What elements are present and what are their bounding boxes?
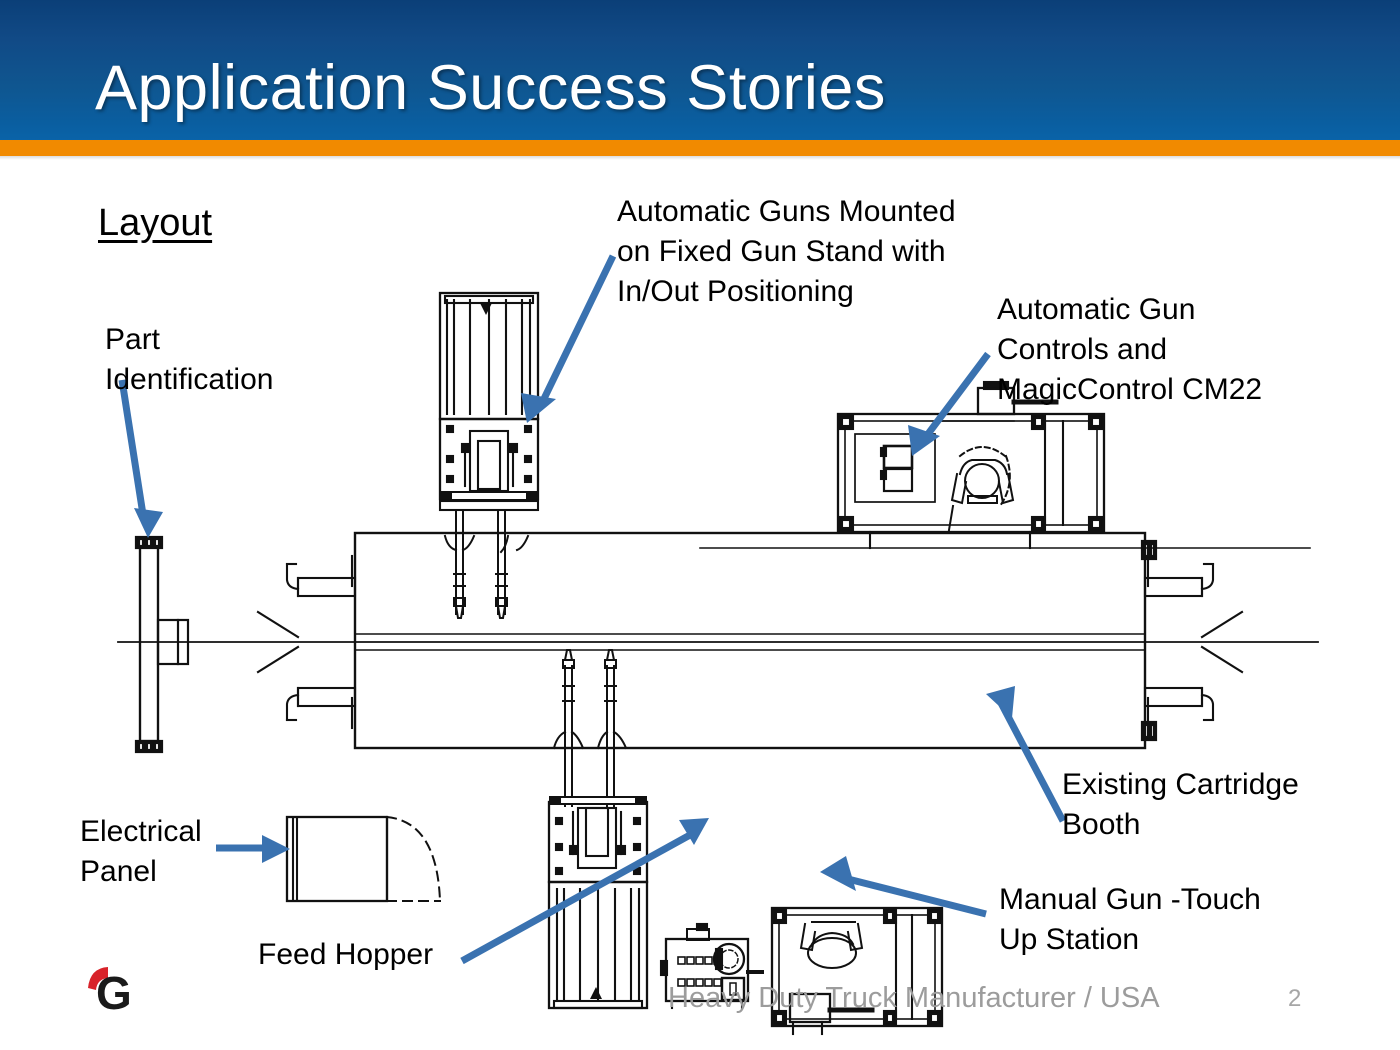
label-feed-hopper: Feed Hopper: [258, 935, 433, 975]
part-identification-station: [136, 537, 188, 752]
logo-letter: G: [96, 967, 132, 1019]
label-automatic-guns: Automatic Guns Mounted on Fixed Gun Stan…: [617, 192, 956, 312]
footer-caption: Heavy Duty Truck Manufacturer / USA: [668, 982, 1160, 1015]
section-title-layout: Layout: [98, 200, 212, 246]
automatic-gun-lance: [445, 510, 528, 618]
page-title: Application Success Stories: [95, 52, 886, 124]
arrow-automatic-guns: [521, 256, 613, 423]
arrow-existing-cartridge-booth: [986, 686, 1063, 821]
arrow-electrical-panel: [216, 835, 290, 863]
gun-control-cabinet: [881, 446, 912, 491]
label-existing-cartridge-booth: Existing Cartridge Booth: [1062, 765, 1299, 845]
rotary-dial: [714, 944, 744, 974]
label-manual-gun-touch-up: Manual Gun -Touch Up Station: [999, 880, 1261, 960]
label-automatic-gun-controls: Automatic Gun Controls and MagicControl …: [997, 290, 1262, 410]
label-part-identification: Part Identification: [105, 320, 273, 400]
header-accent-bar: [0, 140, 1400, 156]
slide-header-band: Application Success Stories: [0, 0, 1400, 140]
arrow-part-identification: [122, 380, 163, 538]
gema-logo: G: [78, 960, 140, 1022]
arrow-manual-gun-touch-up: [820, 856, 986, 914]
page-number: 2: [1288, 985, 1301, 1013]
automatic-gun-lance: [554, 650, 626, 806]
operator-figure: [801, 922, 862, 968]
arrow-automatic-gun-controls: [908, 354, 988, 456]
operator-figure: [949, 447, 1013, 530]
automatic-gun-stand-upper: [440, 293, 538, 618]
automatic-gun-stand-lower: [549, 650, 647, 1008]
label-electrical-panel: Electrical Panel: [80, 812, 202, 892]
electrical-panel-drawing: [287, 817, 440, 901]
existing-cartridge-booth: [258, 533, 1242, 748]
manual-gun-touch-up-platform: [772, 908, 942, 1034]
